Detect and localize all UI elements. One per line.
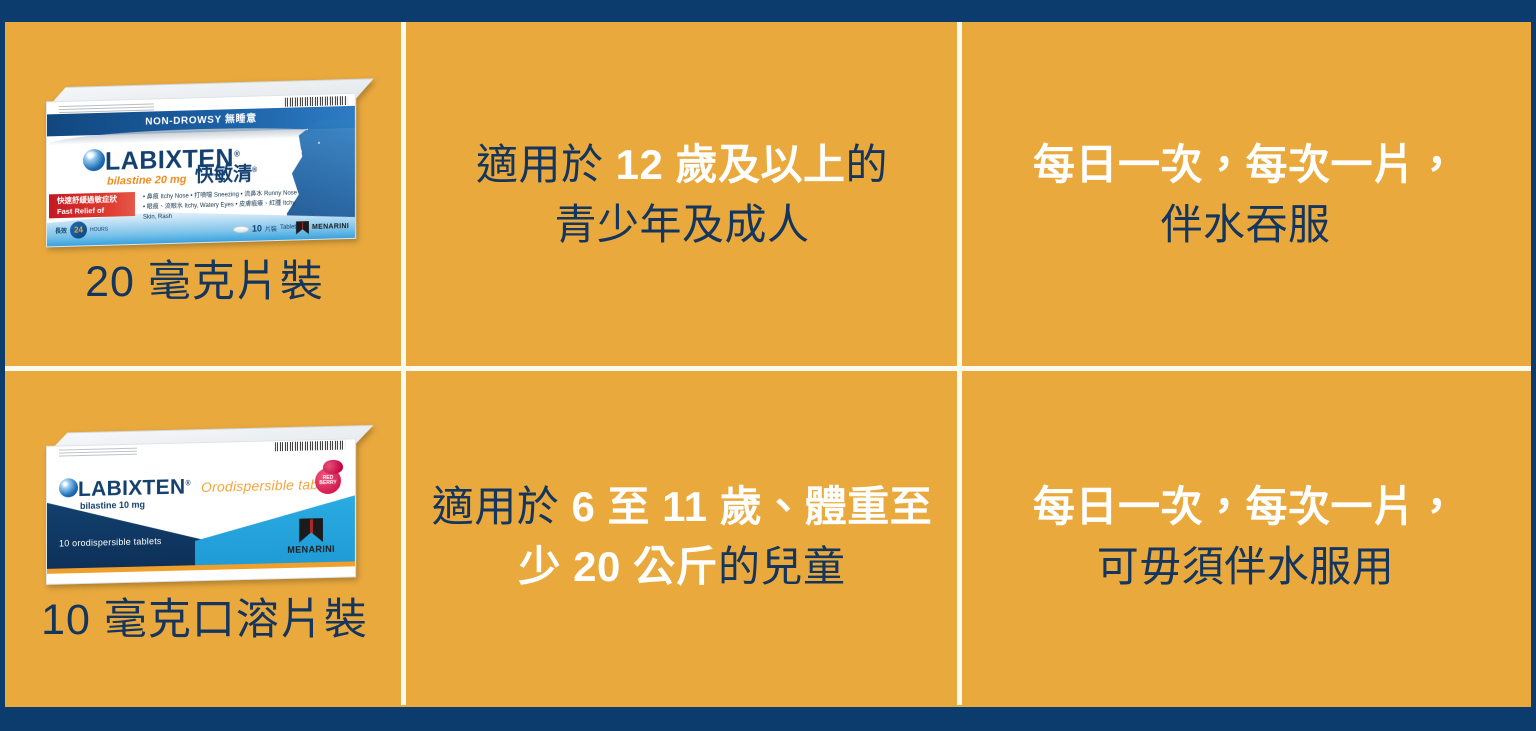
24-hour-badge: 長效 24 HOURS	[55, 221, 108, 239]
hours-cn-label: 長效	[55, 226, 67, 235]
comparison-table: NON-DROWSY 無睡意 LABIXTEN® bilastine 20 mg…	[5, 22, 1531, 707]
menarini-wordmark: MENARINI	[311, 223, 348, 231]
indication-prefix-10mg: 適用於	[432, 483, 572, 530]
carton-small-print-10mg	[59, 447, 137, 457]
symptom-line-2: • 眼痕、流眼水 Itchy, Watery Eyes • 皮膚痕癢、紅腫 It…	[143, 198, 303, 222]
product-cell-20mg: NON-DROWSY 無睡意 LABIXTEN® bilastine 20 mg…	[5, 22, 404, 367]
hours-circle-icon: 24	[70, 221, 87, 238]
tablet-unit-cn: 片裝	[264, 223, 276, 232]
brand-registered-icon-10mg: ®	[185, 481, 190, 488]
tablet-pill-icon	[232, 225, 248, 232]
symptom-list: • 鼻痕 Itchy Nose • 打噴嚏 Sneezing • 流鼻水 Run…	[143, 188, 303, 222]
menarini-wordmark-10mg: MENARINI	[287, 544, 335, 555]
carton-front-face-10mg: LABIXTEN® bilastine 10 mg Orodispersible…	[46, 439, 356, 586]
dosage-cell-20mg: 每日一次，每次一片， 伴水吞服	[960, 22, 1531, 367]
menarini-logo-20mg: MENARINI	[295, 220, 348, 234]
indication-text-10mg: 適用於 6 至 11 歲、體重至少 20 公斤的兒童	[414, 477, 950, 596]
pack-label-20mg: 20 毫克片裝	[85, 259, 324, 306]
flavour-line-2: BERRY	[319, 481, 336, 486]
brand-registered-icon: ®	[234, 150, 240, 159]
indication-text-20mg: 適用於 12 歲及以上的 青少年及成人	[476, 135, 888, 254]
row-divider	[5, 366, 1531, 371]
tablet-count-number: 10	[251, 223, 261, 233]
dosage-line2-20mg: 伴水吞服	[1160, 201, 1330, 248]
strength-20mg: bilastine 20 mg	[107, 173, 186, 187]
slide-root: NON-DROWSY 無睡意 LABIXTEN® bilastine 20 mg…	[0, 0, 1536, 731]
column-divider-2	[957, 22, 962, 705]
dosage-text-20mg: 每日一次，每次一片， 伴水吞服	[1033, 135, 1458, 254]
carton-front-face: NON-DROWSY 無睡意 LABIXTEN® bilastine 20 mg…	[46, 93, 356, 248]
product-box-20mg-image: NON-DROWSY 無睡意 LABIXTEN® bilastine 20 mg…	[46, 78, 364, 247]
barcode-icon	[285, 96, 347, 107]
indication-cell-10mg: 適用於 6 至 11 歲、體重至少 20 公斤的兒童	[404, 367, 960, 707]
tablet-count-group: 10 片裝 Tablets	[232, 222, 298, 234]
indication-suffix-20mg: 的	[846, 141, 889, 188]
indication-highlight-20mg: 12 歲及以上	[616, 141, 846, 188]
fast-relief-en: Fast Relief of	[57, 204, 135, 217]
hours-unit-label: HOURS	[90, 226, 108, 233]
column-divider-1	[401, 22, 406, 705]
labixten-sphere-icon	[83, 149, 105, 172]
menarini-logo-10mg: MENARINI	[287, 518, 335, 555]
strength-10mg: bilastine 10 mg	[80, 500, 145, 512]
menarini-mark-icon	[295, 221, 308, 234]
dosage-line2-10mg: 可毋須伴水服用	[1097, 543, 1395, 590]
brand-cn-registered-icon: ®	[252, 167, 257, 174]
pack-label-10mg: 10 毫克口溶片裝	[41, 597, 368, 644]
indication-suffix-10mg: 的兒童	[718, 543, 846, 590]
product-cell-10mg: LABIXTEN® bilastine 10 mg Orodispersible…	[5, 367, 404, 707]
brand-name-cn-20mg: 快敏清®	[195, 164, 257, 185]
labixten-sphere-icon-10mg	[59, 478, 78, 497]
indication-prefix-20mg: 適用於	[476, 141, 616, 188]
dosage-text-10mg: 每日一次，每次一片， 可毋須伴水服用	[1033, 477, 1458, 596]
menarini-mark-icon-10mg	[299, 518, 323, 543]
dosage-highlight-20mg: 每日一次，每次一片，	[1033, 141, 1458, 188]
fast-relief-tag: 快速舒緩過敏症狀 Fast Relief of	[49, 192, 135, 218]
dosage-highlight-10mg: 每日一次，每次一片，	[1033, 483, 1458, 530]
barcode-icon-10mg	[275, 441, 345, 452]
indication-cell-20mg: 適用於 12 歲及以上的 青少年及成人	[404, 22, 960, 367]
brand-name-10mg: LABIXTEN®	[78, 477, 191, 501]
dosage-cell-10mg: 每日一次，每次一片， 可毋須伴水服用	[960, 367, 1531, 707]
indication-line2-20mg: 青少年及成人	[554, 201, 809, 248]
product-box-10mg-image: LABIXTEN® bilastine 10 mg Orodispersible…	[46, 425, 364, 585]
